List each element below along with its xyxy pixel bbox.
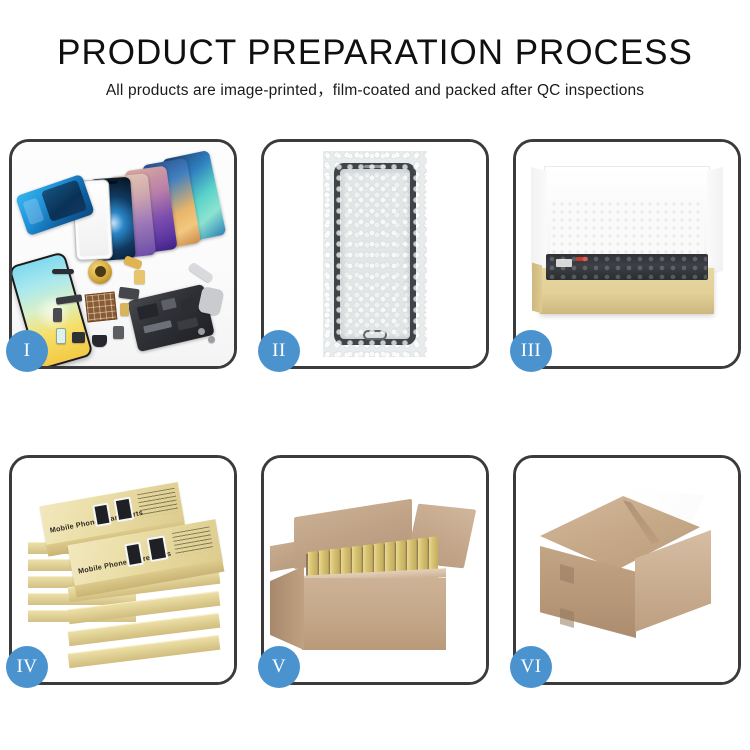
connector-grid-chip — [85, 292, 118, 323]
process-step-panel-1[interactable]: I — [9, 139, 237, 369]
screw-part-2 — [208, 336, 215, 343]
small-connector-part — [53, 308, 62, 322]
box-thumbnail-1b — [114, 497, 135, 523]
flex-cable-part-1 — [123, 255, 143, 270]
step-badge-1: I — [6, 330, 48, 372]
gold-coil-part — [88, 260, 112, 284]
page-title: PRODUCT PREPARATION PROCESS — [0, 32, 750, 74]
panel-2-image — [264, 142, 486, 366]
panel-6-image — [516, 458, 738, 682]
flex-cable-part-2 — [134, 270, 145, 284]
sim-tray-part — [113, 326, 124, 339]
retail-box-stack: Mobile Phone Spare Parts Mobile Phone Sp… — [26, 480, 222, 666]
carton-body — [302, 578, 446, 650]
process-step-panel-4[interactable]: Mobile Phone Spare Parts Mobile Phone Sp… — [9, 455, 237, 685]
bubble-wrap-sheet — [323, 151, 427, 357]
box-thumbnail-2b — [147, 535, 169, 562]
bubble-wrap-scene — [264, 142, 486, 366]
process-step-panel-5[interactable]: V — [261, 455, 489, 685]
battery-part — [56, 328, 66, 344]
earpiece-speaker-part — [52, 269, 74, 274]
bubble-overlay — [323, 151, 427, 357]
process-step-panel-6[interactable]: VI — [513, 455, 741, 685]
panel-3-image — [516, 142, 738, 366]
page-subtitle: All products are image-printed，film-coat… — [0, 81, 750, 101]
product-preparation-infographic: PRODUCT PREPARATION PROCESS All products… — [0, 0, 750, 750]
tweezers-tool — [188, 261, 215, 283]
step-badge-5: V — [258, 646, 300, 688]
step-badge-6: VI — [510, 646, 552, 688]
packed-screen-tray — [546, 254, 708, 280]
box-thumbnail-1a — [92, 503, 112, 527]
screw-part-1 — [198, 328, 205, 335]
carton-tape-mark-2 — [560, 608, 574, 628]
open-gift-box-scene — [516, 142, 738, 366]
step-badge-2: II — [258, 330, 300, 372]
box-spec-lines-2 — [172, 526, 214, 556]
spare-parts-scene — [12, 142, 234, 366]
step-badge-4: IV — [6, 646, 48, 688]
box-thumbnail-2a — [124, 542, 144, 567]
box-stack-scene: Mobile Phone Spare Parts Mobile Phone Sp… — [12, 458, 234, 682]
process-step-panel-2[interactable]: II — [261, 139, 489, 369]
back-cover-part — [198, 286, 225, 316]
process-steps-grid: I II — [9, 139, 741, 699]
open-carton-scene — [264, 458, 486, 682]
panel-4-image: Mobile Phone Spare Parts Mobile Phone Sp… — [12, 458, 234, 682]
speaker-box-part — [92, 335, 107, 347]
red-marker-sticker — [576, 257, 588, 261]
panel-5-image — [264, 458, 486, 682]
step-badge-3: III — [510, 330, 552, 372]
page-header: PRODUCT PREPARATION PROCESS All products… — [0, 0, 750, 101]
kraft-gift-box — [540, 268, 714, 314]
sealed-carton-scene — [516, 458, 738, 682]
process-step-panel-3[interactable]: III — [513, 139, 741, 369]
panel-1-image — [12, 142, 234, 366]
gold-contact-part — [120, 303, 129, 316]
vibrator-motor-part — [72, 332, 85, 343]
box-spec-lines-1 — [137, 488, 179, 518]
camera-module-part — [118, 287, 139, 301]
screen-label-tag — [556, 259, 572, 267]
